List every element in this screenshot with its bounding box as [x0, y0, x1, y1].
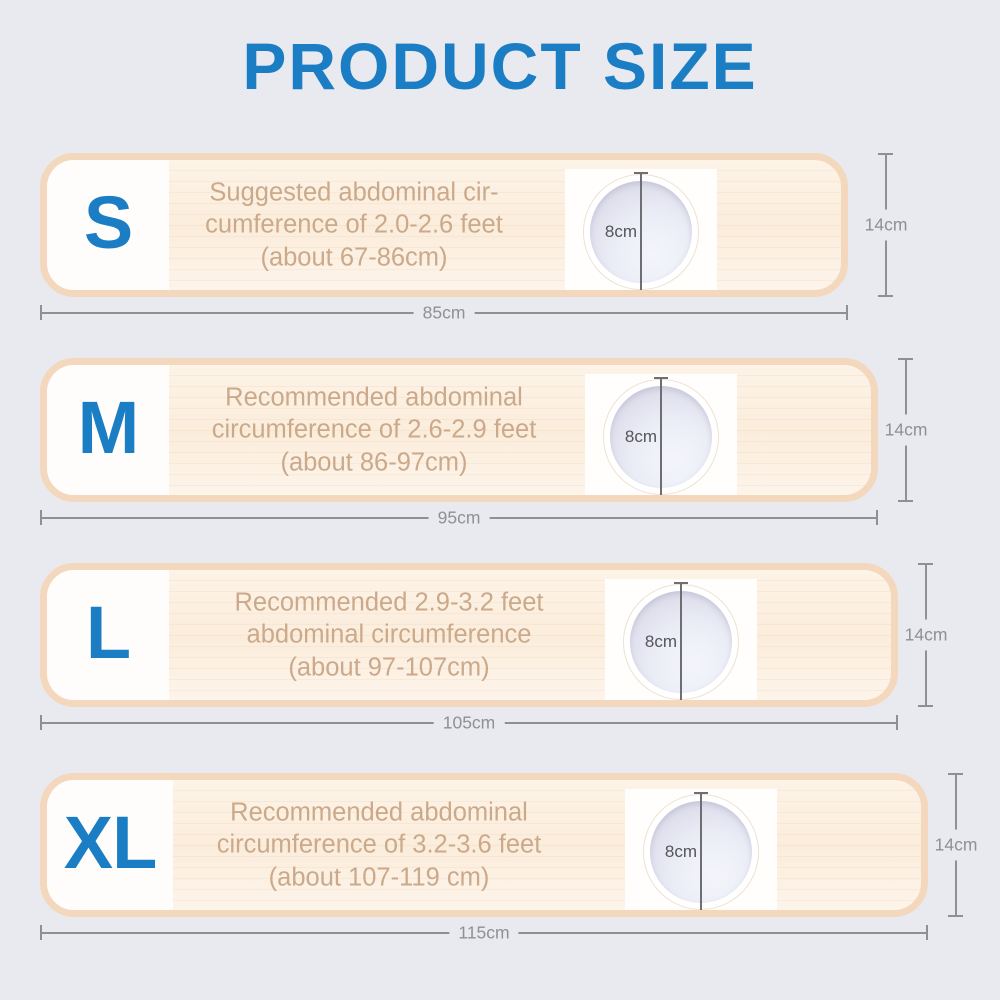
height-dimension-label: 14cm [865, 210, 908, 241]
belt-graphic-l: L Recommended 2.9-3.2 feet abdominal cir… [40, 563, 898, 707]
size-letter: XL [64, 806, 157, 880]
height-dimension-xl: 14cm [948, 773, 964, 917]
hole-circle-icon: 8cm [583, 174, 699, 290]
hole-dimension-label: 8cm [625, 427, 661, 447]
hole-dimension-label: 8cm [645, 632, 681, 652]
belt-graphic-m: M Recommended abdominal circumference of… [40, 358, 878, 502]
size-letter-panel-s: S [47, 160, 169, 290]
size-letter: M [78, 391, 139, 465]
width-dimension-m: 95cm [40, 510, 878, 526]
size-letter: L [86, 596, 130, 670]
width-dimension-label: 105cm [434, 713, 505, 734]
dimension-cap-top [878, 153, 893, 155]
hole-circle-icon: 8cm [603, 379, 719, 495]
dimension-cap-top [898, 358, 913, 360]
height-dimension-label: 14cm [935, 830, 978, 861]
dimension-cap-bottom [898, 500, 913, 502]
dimension-cap-bottom [878, 295, 893, 297]
dimension-cap-left [40, 715, 42, 730]
size-letter-panel-m: M [47, 365, 169, 495]
width-dimension-s: 85cm [40, 305, 848, 321]
size-letter-panel-l: L [47, 570, 169, 700]
hole-dimension-label: 8cm [605, 222, 641, 242]
height-dimension-s: 14cm [878, 153, 894, 297]
dimension-cap-right [846, 305, 848, 320]
size-letter-panel-xl: XL [47, 780, 173, 910]
hole-card-m: 8cm [585, 374, 737, 500]
hole-card-s: 8cm [565, 169, 717, 295]
dimension-cap-top [918, 563, 933, 565]
height-dimension-label: 14cm [905, 620, 948, 651]
size-description-l: Recommended 2.9-3.2 feet abdominal circu… [179, 586, 599, 683]
size-description-m: Recommended abdominal circumference of 2… [169, 381, 579, 478]
belt-graphic-s: S Suggested abdominal cir- cumference of… [40, 153, 848, 297]
width-dimension-label: 95cm [429, 508, 490, 529]
width-dimension-label: 115cm [449, 923, 518, 944]
dimension-cap-bottom [948, 915, 963, 917]
belt-graphic-xl: XL Recommended abdominal circumference o… [40, 773, 928, 917]
dimension-cap-right [896, 715, 898, 730]
hole-dimension-label: 8cm [665, 842, 701, 862]
size-description-xl: Recommended abdominal circumference of 3… [173, 796, 585, 893]
size-letter: S [84, 186, 132, 260]
hole-circle-icon: 8cm [643, 794, 759, 910]
hole-card-xl: 8cm [625, 789, 777, 915]
dimension-cap-right [876, 510, 878, 525]
height-dimension-l: 14cm [918, 563, 934, 707]
dimension-cap-top [948, 773, 963, 775]
dimension-cap-left [40, 925, 42, 940]
height-dimension-m: 14cm [898, 358, 914, 502]
dimension-cap-right [926, 925, 928, 940]
width-dimension-xl: 115cm [40, 925, 928, 941]
dimension-cap-left [40, 305, 42, 320]
dimension-cap-left [40, 510, 42, 525]
width-dimension-label: 85cm [414, 303, 475, 324]
hole-card-l: 8cm [605, 579, 757, 705]
height-dimension-label: 14cm [885, 415, 928, 446]
size-description-s: Suggested abdominal cir- cumference of 2… [169, 176, 539, 273]
hole-circle-icon: 8cm [623, 584, 739, 700]
page-title: PRODUCT SIZE [0, 33, 1000, 99]
dimension-cap-bottom [918, 705, 933, 707]
width-dimension-l: 105cm [40, 715, 898, 731]
